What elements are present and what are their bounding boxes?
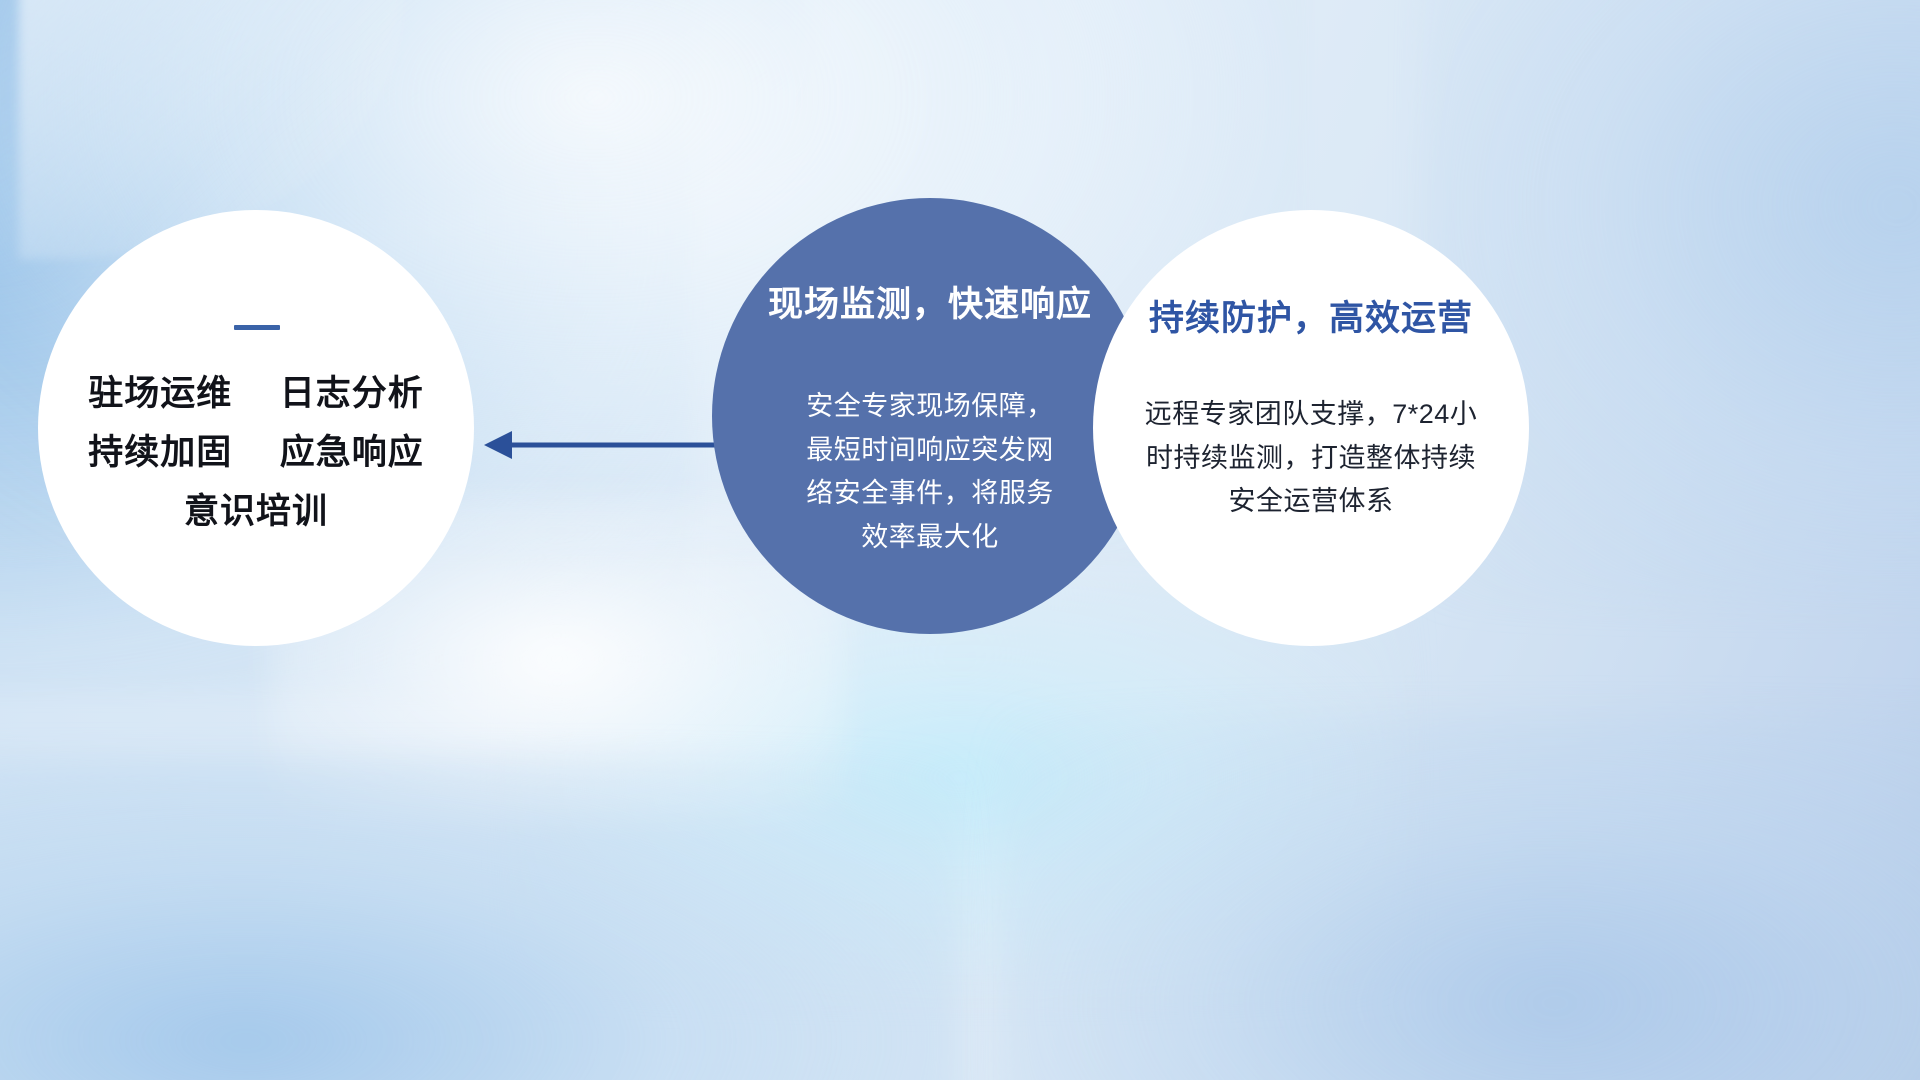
keyword-label: 应急响应	[280, 433, 424, 472]
keyword-label: 驻场运维	[88, 374, 232, 413]
capability-circle-left[interactable]: 驻场运维 日志分析 持续加固 应急响应 意识培训	[38, 210, 474, 646]
background-blue-blob-bottom-right	[998, 713, 1920, 1080]
keyword-row: 意识培训	[184, 494, 328, 531]
keyword-list: 驻场运维 日志分析 持续加固 应急响应 意识培训	[88, 376, 424, 530]
keyword-label: 持续加固	[88, 433, 232, 472]
capability-circle-right[interactable]: 持续防护，高效运营 远程专家团队支撑，7*24小时持续监测，打造整体持续安全运营…	[1093, 210, 1529, 646]
circle-title: 现场监测，快速响应	[768, 276, 1092, 327]
keyword-row: 持续加固 应急响应	[88, 435, 424, 472]
divider-dash	[234, 325, 280, 330]
capability-circle-middle[interactable]: 现场监测，快速响应 安全专家现场保障，最短时间响应突发网络安全事件，将服务效率最…	[712, 198, 1148, 634]
keyword-row: 驻场运维 日志分析	[88, 376, 424, 413]
slide-canvas: 驻场运维 日志分析 持续加固 应急响应 意识培训 现场监测，快速响应 安全专家现…	[0, 0, 1920, 1080]
circle-body-text: 远程专家团队支撑，7*24小时持续监测，打造整体持续安全运营体系	[1133, 393, 1489, 524]
keyword-label: 日志分析	[280, 374, 424, 413]
circle-title: 持续防护，高效运营	[1149, 290, 1473, 341]
circle-body-text: 安全专家现场保障，最短时间响应突发网络安全事件，将服务效率最大化	[796, 385, 1064, 560]
background-blue-blob-bottom-left	[0, 756, 960, 1080]
keyword-label: 意识培训	[184, 492, 328, 531]
